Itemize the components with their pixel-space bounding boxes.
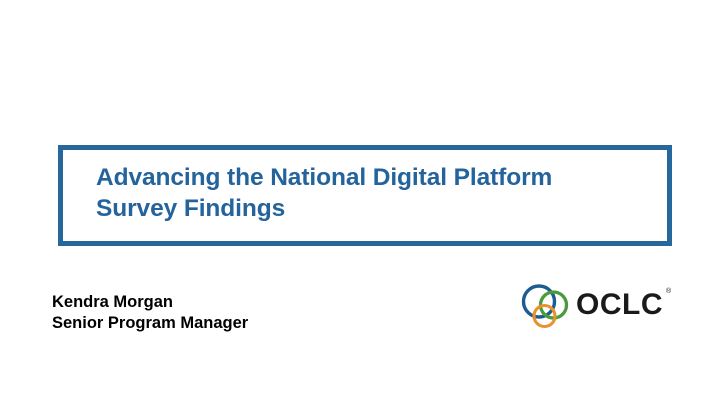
page-title: Advancing the National Digital Platform … (96, 162, 552, 224)
oclc-wordmark: OCLC (576, 289, 663, 321)
oclc-trademark-symbol: ® (666, 288, 671, 296)
presentation-slide: Advancing the National Digital Platform … (0, 0, 720, 405)
title-box: Advancing the National Digital Platform … (58, 145, 672, 246)
oclc-logo: OCLC ® (518, 283, 676, 331)
oclc-three-rings-icon (518, 283, 574, 331)
presenter-byline: Kendra Morgan Senior Program Manager (52, 292, 248, 334)
